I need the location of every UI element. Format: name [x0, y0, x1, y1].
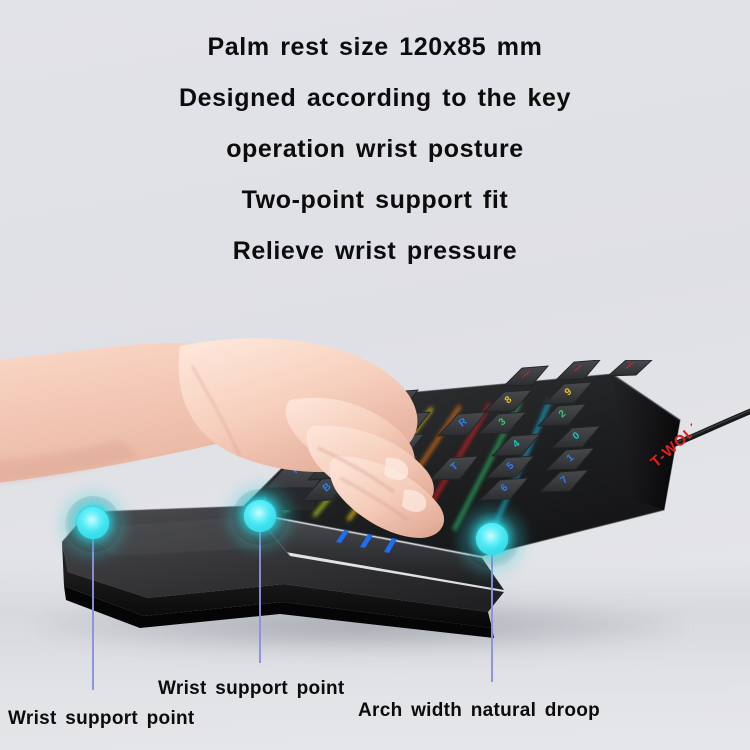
headline-line-4: Two-point support fit: [0, 175, 750, 226]
annotation-label-arch-width-natural-droop: Arch width natural droop: [358, 700, 600, 722]
product-marketing-image: Palm rest size 120x85 mm Designed accord…: [0, 0, 750, 750]
annotation-label-wrist-support-point-left: Wrist support point: [8, 708, 195, 730]
headline-line-5: Relieve wrist pressure: [0, 226, 750, 277]
headline-block: Palm rest size 120x85 mm Designed accord…: [0, 22, 750, 277]
headline-line-1: Palm rest size 120x85 mm: [0, 22, 750, 73]
headline-line-3: operation wrist posture: [0, 124, 750, 175]
marker-wrist-support-point-left: [65, 496, 121, 552]
keycap-fn-3: —: [608, 360, 652, 376]
marker-wrist-support-point-mid: [232, 489, 288, 545]
leader-line-wrist-support-point-left: [92, 530, 94, 690]
marker-arch-width-natural-droop: [464, 512, 520, 568]
headline-line-2: Designed according to the key: [0, 73, 750, 124]
annotation-label-wrist-support-point-mid: Wrist support point: [158, 678, 345, 700]
